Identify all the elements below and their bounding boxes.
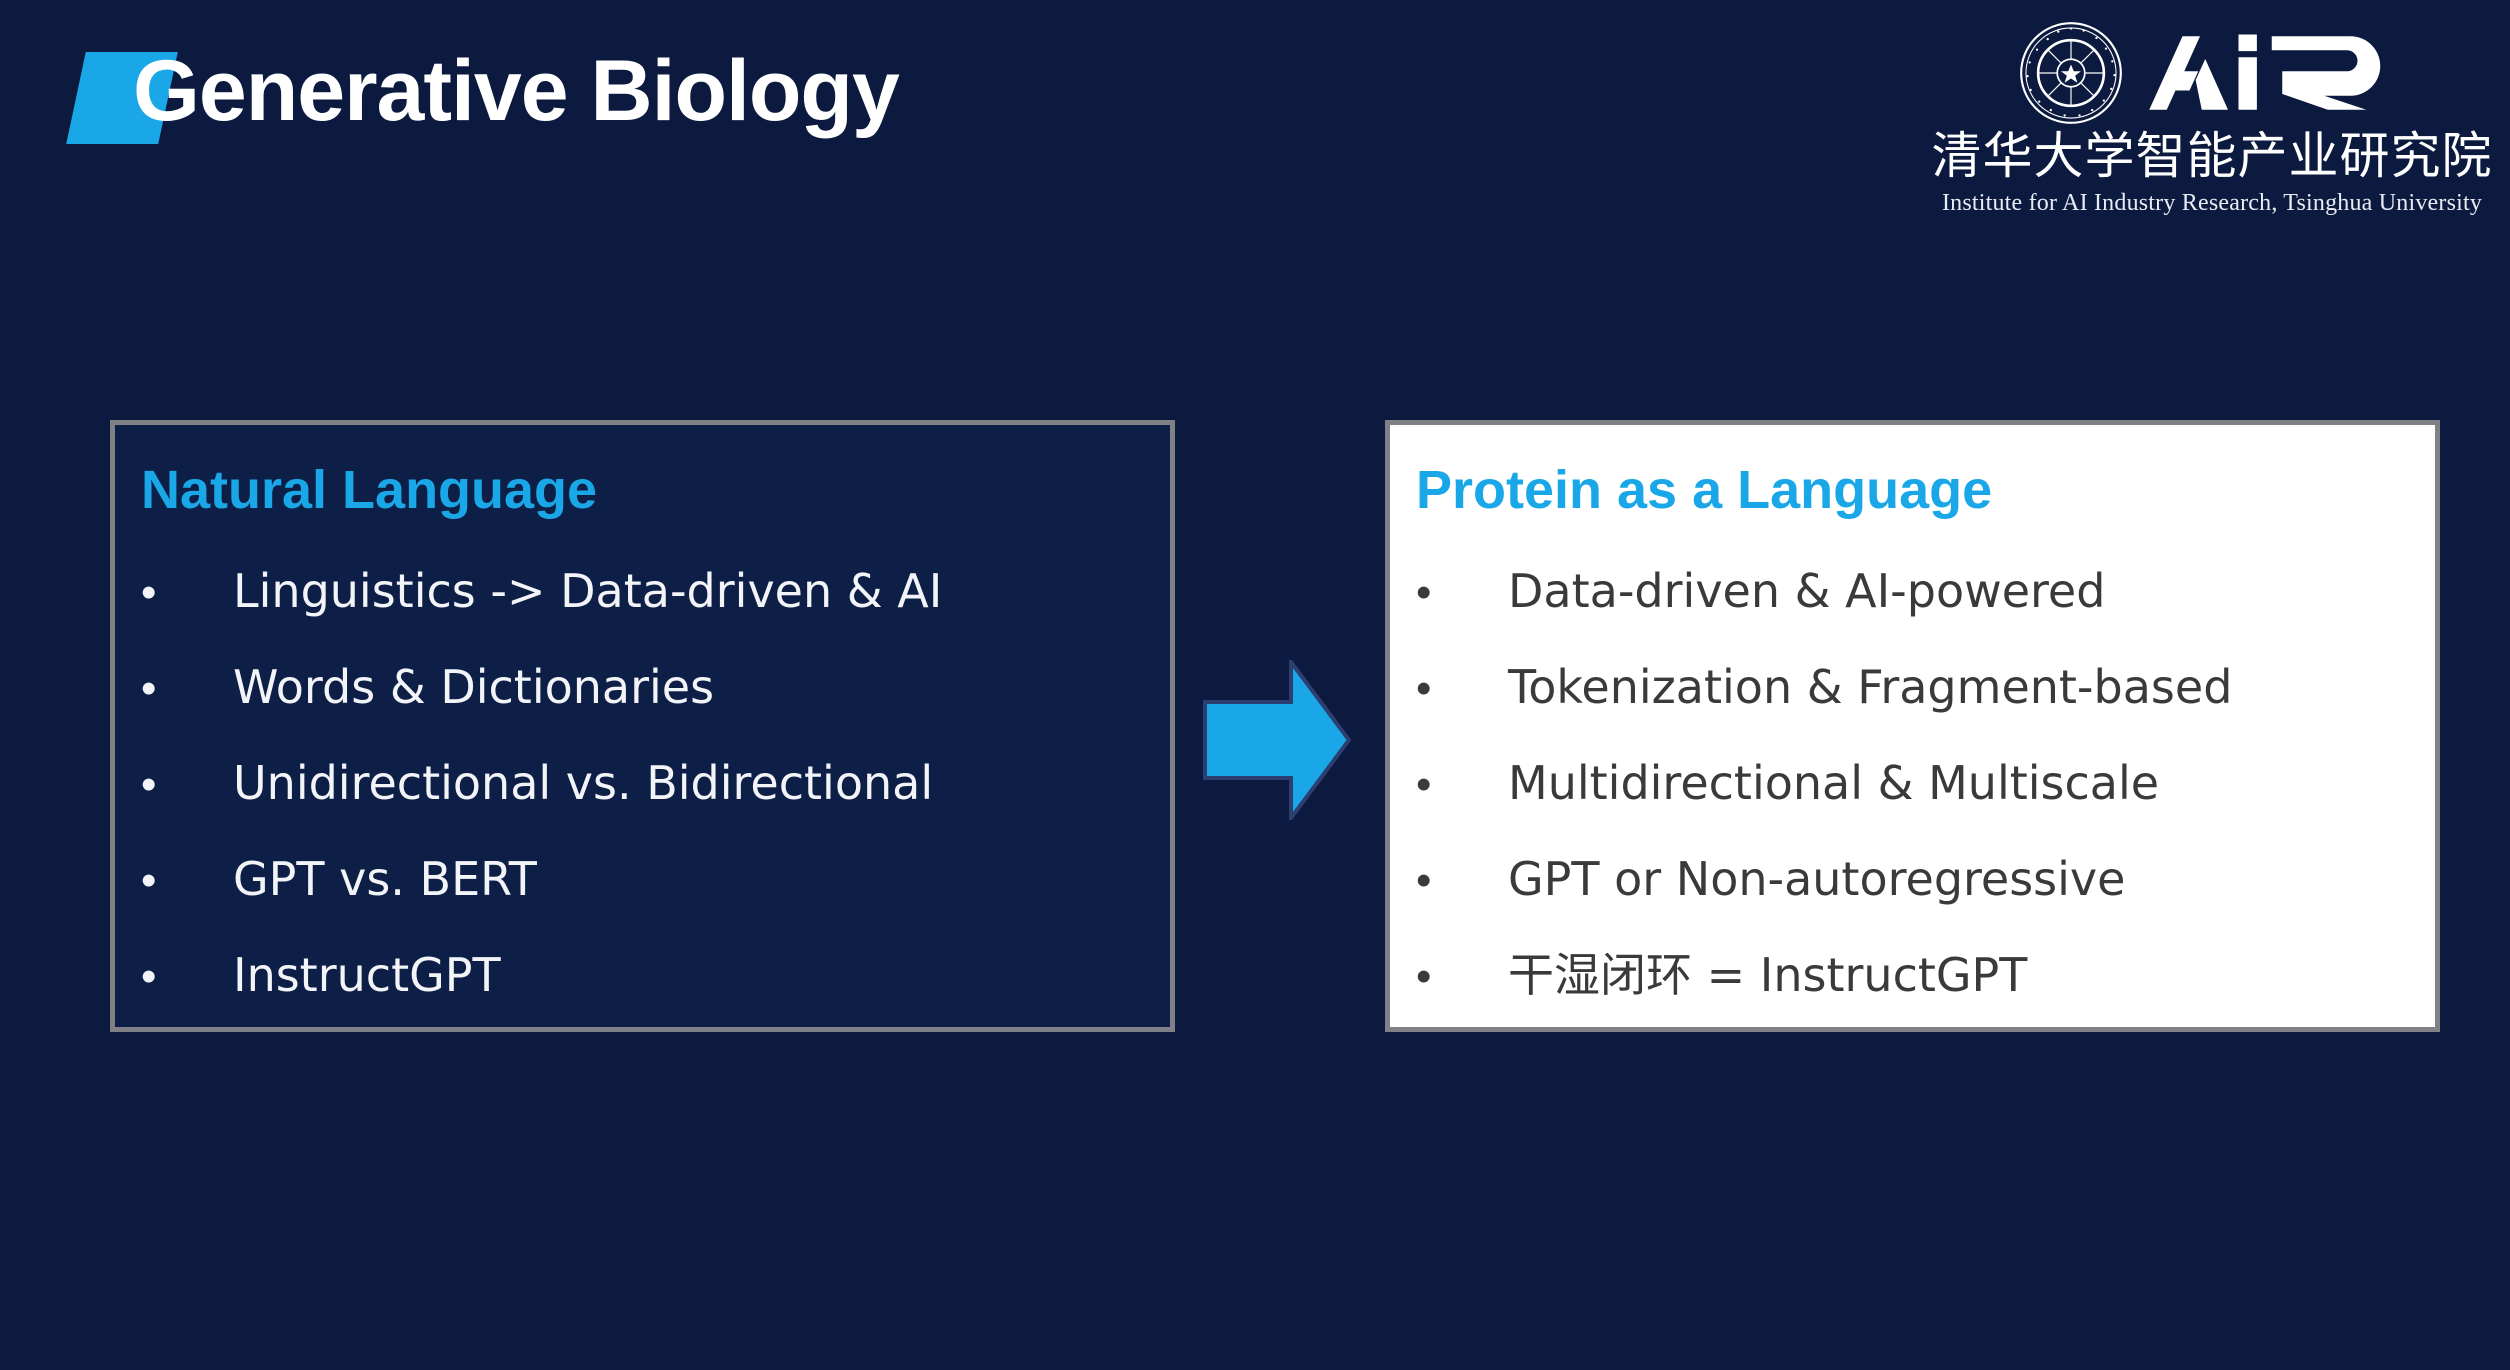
- list-item-label: GPT or Non-autoregressive: [1508, 856, 2421, 902]
- bullet-dot-icon: •: [1416, 763, 1508, 807]
- list-item: • Tokenization & Fragment-based: [1416, 664, 2421, 760]
- list-item: • GPT or Non-autoregressive: [1416, 856, 2421, 952]
- list-item: • Data-driven & AI-powered: [1416, 568, 2421, 664]
- list-item-label: 干湿闭环 = InstructGPT: [1508, 952, 2421, 998]
- panel-protein-as-a-language: Protein as a Language • Data-driven & AI…: [1385, 420, 2440, 1032]
- list-item: • Unidirectional vs. Bidirectional: [141, 760, 1156, 856]
- bullet-list: • Linguistics -> Data-driven & AI • Word…: [141, 568, 1156, 1048]
- list-item: • GPT vs. BERT: [141, 856, 1156, 952]
- list-item: • InstructGPT: [141, 952, 1156, 1048]
- page-title: Generative Biology: [133, 48, 899, 134]
- logo-marks: [2018, 18, 2407, 128]
- bullet-dot-icon: •: [1416, 667, 1508, 711]
- bullet-dot-icon: •: [1416, 859, 1508, 903]
- bullet-dot-icon: •: [1416, 955, 1508, 999]
- panel-natural-language: Natural Language • Linguistics -> Data-d…: [110, 420, 1175, 1032]
- bullet-dot-icon: •: [141, 571, 233, 615]
- list-item: • Linguistics -> Data-driven & AI: [141, 568, 1156, 664]
- right-arrow-icon: [1203, 660, 1351, 820]
- list-item: • Words & Dictionaries: [141, 664, 1156, 760]
- bullet-list: • Data-driven & AI-powered • Tokenizatio…: [1416, 568, 2421, 1048]
- panel-heading: Natural Language: [141, 463, 597, 517]
- panel-heading: Protein as a Language: [1416, 463, 1992, 517]
- tsinghua-seal-icon: [2018, 20, 2124, 126]
- list-item-label: Linguistics -> Data-driven & AI: [233, 568, 1156, 614]
- list-item-label: Words & Dictionaries: [233, 664, 1156, 710]
- institution-logo: 清华大学智能产业研究院 Institute for AI Industry Re…: [1942, 18, 2482, 217]
- logo-chinese-name: 清华大学智能产业研究院: [1932, 130, 2493, 183]
- list-item: • 干湿闭环 = InstructGPT: [1416, 952, 2421, 1048]
- list-item-label: InstructGPT: [233, 952, 1156, 998]
- list-item-label: Multidirectional & Multiscale: [1508, 760, 2421, 806]
- bullet-dot-icon: •: [141, 667, 233, 711]
- logo-english-name: Institute for AI Industry Research, Tsin…: [1942, 190, 2482, 217]
- slide: Generative Biology: [0, 0, 2510, 1370]
- bullet-dot-icon: •: [141, 859, 233, 903]
- list-item-label: Tokenization & Fragment-based: [1508, 664, 2421, 710]
- list-item-label: Unidirectional vs. Bidirectional: [233, 760, 1156, 806]
- list-item-label: Data-driven & AI-powered: [1508, 568, 2421, 614]
- list-item: • Multidirectional & Multiscale: [1416, 760, 2421, 856]
- bullet-dot-icon: •: [141, 955, 233, 999]
- bullet-dot-icon: •: [1416, 571, 1508, 615]
- list-item-label: GPT vs. BERT: [233, 856, 1156, 902]
- bullet-dot-icon: •: [141, 763, 233, 807]
- air-wordmark-icon: [2144, 31, 2407, 115]
